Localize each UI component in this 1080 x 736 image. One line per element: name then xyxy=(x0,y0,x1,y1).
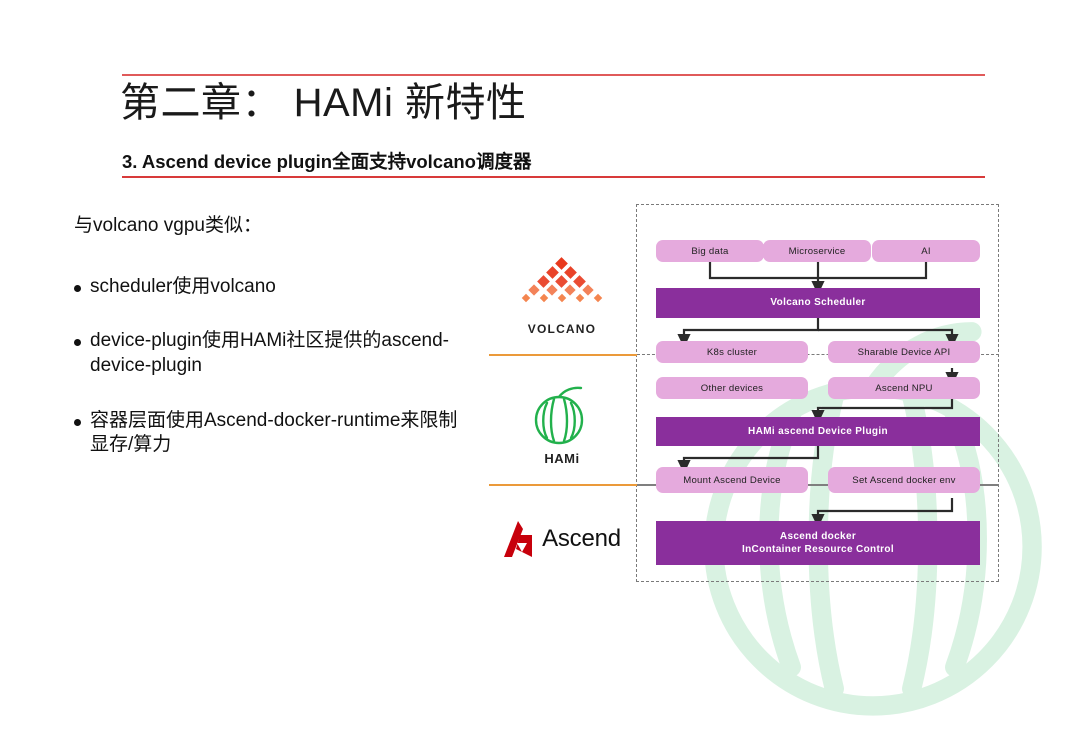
node-set-ascend-docker-env[interactable]: Set Ascend docker env xyxy=(828,467,980,493)
node-k8s-cluster[interactable]: K8s cluster xyxy=(656,341,808,363)
bullet-text: scheduler使用volcano xyxy=(90,275,276,300)
bullet-list: 与volcano vgpu类似： scheduler使用volcano devi… xyxy=(74,212,464,488)
list-item: device-plugin使用HAMi社区提供的ascend-device-pl… xyxy=(74,329,464,378)
hami-logo-icon xyxy=(528,386,596,448)
volcano-logo-label: VOLCANO xyxy=(528,322,596,336)
page-title: 第二章： HAMi 新特性 xyxy=(120,80,527,126)
node-microservice[interactable]: Microservice xyxy=(763,240,871,262)
bullet-text: device-plugin使用HAMi社区提供的ascend-device-pl… xyxy=(90,329,464,378)
bullet-dot-icon xyxy=(74,339,81,346)
page-subtitle: 3. Ascend device plugin全面支持volcano调度器 xyxy=(122,148,531,174)
node-volcano-scheduler[interactable]: Volcano Scheduler xyxy=(656,288,980,318)
ascend-logo-label: Ascend xyxy=(542,525,621,553)
layer-separator-orange-2 xyxy=(489,484,637,486)
node-ascend-docker-line1: Ascend docker xyxy=(780,530,856,544)
bullet-text: 容器层面使用Ascend-docker-runtime来限制显存/算力 xyxy=(90,409,464,458)
ascend-logo-icon xyxy=(503,519,537,559)
list-item: scheduler使用volcano xyxy=(74,275,464,300)
node-ascend-docker-line2: InContainer Resource Control xyxy=(742,543,894,557)
node-ai[interactable]: AI xyxy=(872,240,980,262)
architecture-diagram: VOLCANO HAMi Ascend xyxy=(488,196,1048,586)
hami-logo-cell: HAMi xyxy=(488,376,636,476)
node-mount-ascend-device[interactable]: Mount Ascend Device xyxy=(656,467,808,493)
layer-separator-orange-1 xyxy=(489,354,637,356)
bullet-lead: 与volcano vgpu类似： xyxy=(74,212,464,241)
node-ascend-npu[interactable]: Ascend NPU xyxy=(828,377,980,399)
hami-logo-label: HAMi xyxy=(544,451,579,466)
node-ascend-docker[interactable]: Ascend docker InContainer Resource Contr… xyxy=(656,521,980,565)
title-rule-bottom xyxy=(122,176,985,178)
bullet-dot-icon xyxy=(74,419,81,426)
node-hami-ascend-device-plugin[interactable]: HAMi ascend Device Plugin xyxy=(656,417,980,446)
node-big-data[interactable]: Big data xyxy=(656,240,764,262)
node-other-devices[interactable]: Other devices xyxy=(656,377,808,399)
bullet-dot-icon xyxy=(74,285,81,292)
list-item: 容器层面使用Ascend-docker-runtime来限制显存/算力 xyxy=(74,409,464,458)
volcano-logo-cell: VOLCANO xyxy=(488,246,636,346)
ascend-logo-cell: Ascend xyxy=(488,496,636,582)
node-sharable-device-api[interactable]: Sharable Device API xyxy=(828,341,980,363)
volcano-logo-icon xyxy=(516,257,608,319)
title-rule-top xyxy=(122,74,985,76)
